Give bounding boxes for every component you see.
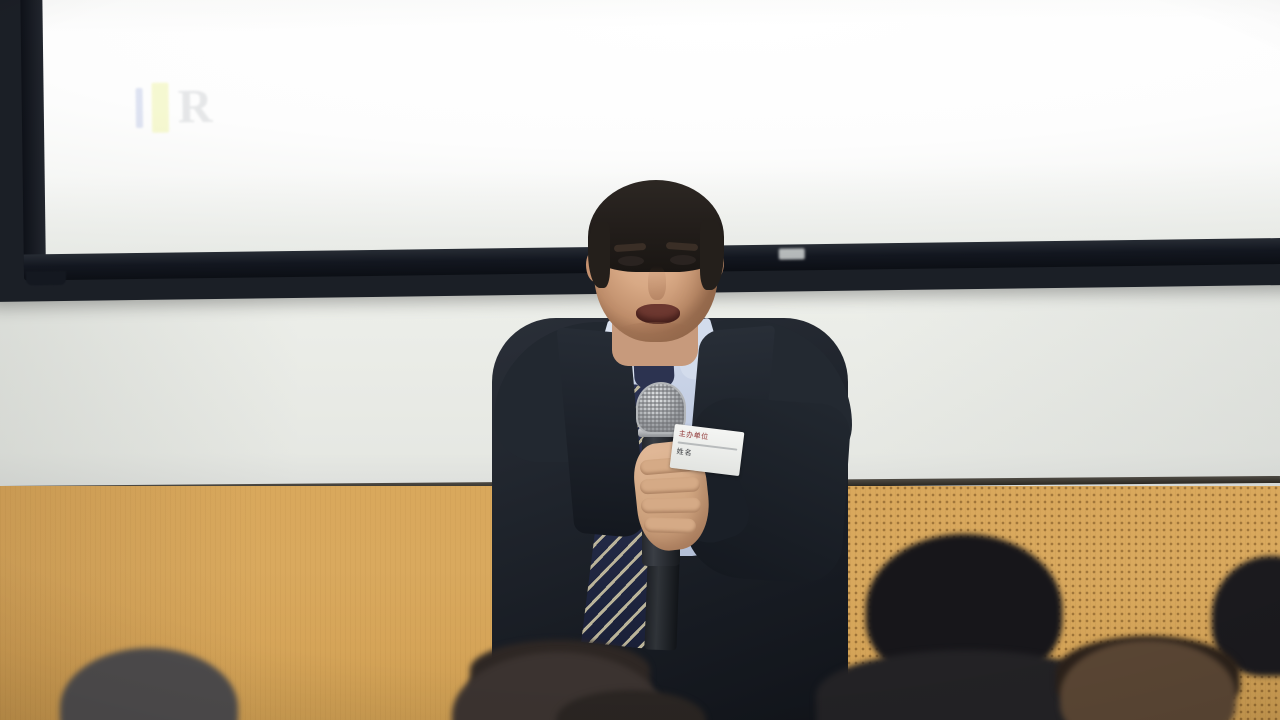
finger bbox=[644, 517, 696, 534]
speaker-figure: 主办单位 姓名 bbox=[0, 0, 1280, 720]
finger bbox=[641, 497, 701, 513]
microphone-body-lower bbox=[644, 559, 679, 650]
hair-side-right bbox=[700, 220, 724, 290]
finger bbox=[640, 476, 701, 494]
chin-shadow bbox=[614, 322, 698, 346]
nose bbox=[648, 266, 666, 300]
photo-canvas: R 哔哩哔哩 bbox=[0, 0, 1280, 720]
eye-right bbox=[670, 255, 696, 265]
eye-left bbox=[618, 256, 644, 266]
hair-side-left bbox=[588, 222, 610, 288]
conference-name-badge: 主办单位 姓名 bbox=[670, 424, 745, 476]
mouth-speaking bbox=[636, 304, 680, 324]
